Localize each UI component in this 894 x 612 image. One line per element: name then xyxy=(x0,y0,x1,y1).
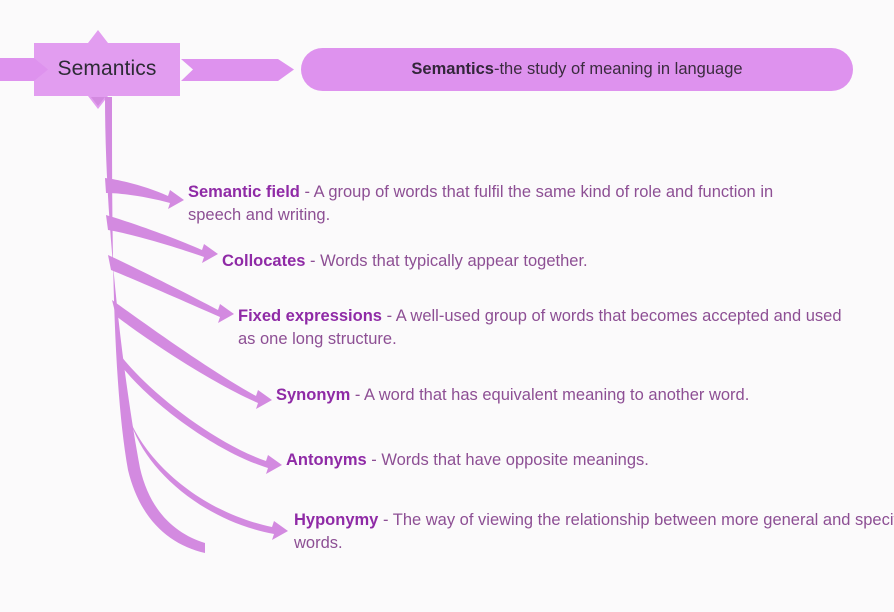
branch-item-synonym: Synonym - A word that has equivalent mea… xyxy=(276,384,876,407)
root-node-label: Semantics xyxy=(34,43,180,95)
branch-item-term: Hyponymy xyxy=(294,511,378,529)
definition-pill-text: Semantics - the study of meaning in lang… xyxy=(301,48,853,91)
branch-item-term: Fixed expressions xyxy=(238,307,382,325)
branch-curve-5 xyxy=(126,410,288,540)
branch-item-term: Semantic field xyxy=(188,183,300,201)
branch-item-collocates: Collocates - Words that typically appear… xyxy=(222,250,822,273)
definition-pill-term: Semantics xyxy=(411,60,494,79)
branch-item-term: Synonym xyxy=(276,386,350,404)
branch-item-description: A word that has equivalent meaning to an… xyxy=(364,386,749,404)
root-to-definition-arrow-icon xyxy=(181,59,294,81)
branch-item-separator: - xyxy=(382,307,396,325)
branch-item-description: Words that typically appear together. xyxy=(320,252,588,270)
branch-item-separator: - xyxy=(305,252,320,270)
branch-item-separator: - xyxy=(378,511,392,529)
branch-curve-0 xyxy=(105,178,184,209)
mindmap-canvas: Semantics Semantics - the study of meani… xyxy=(0,0,894,612)
branch-item-semantic-field: Semantic field - A group of words that f… xyxy=(188,181,788,227)
branch-trunk xyxy=(91,97,205,553)
branch-item-term: Antonyms xyxy=(286,451,367,469)
branch-item-hyponymy: Hyponymy - The way of viewing the relati… xyxy=(294,509,894,555)
branch-item-separator: - xyxy=(300,183,314,201)
definition-pill-description: the study of meaning in language xyxy=(499,60,742,79)
branch-item-fixed-expressions: Fixed expressions - A well-used group of… xyxy=(238,305,858,351)
branch-item-term: Collocates xyxy=(222,252,305,270)
branch-item-description: Words that have opposite meanings. xyxy=(381,451,649,469)
branch-item-separator: - xyxy=(367,451,382,469)
branch-item-antonyms: Antonyms - Words that have opposite mean… xyxy=(286,449,886,472)
branch-item-separator: - xyxy=(350,386,364,404)
